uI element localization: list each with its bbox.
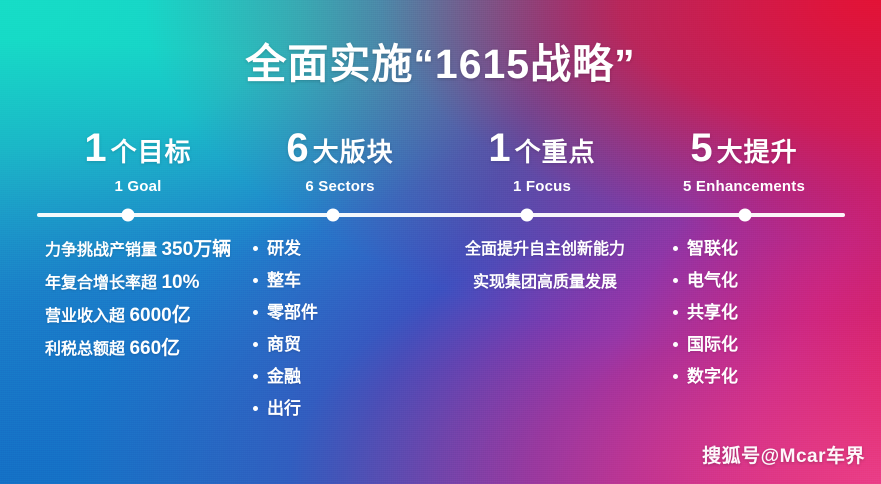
list-item: 商贸 — [253, 336, 445, 353]
focus-line: 实现集团高质量发展 — [445, 275, 645, 291]
divider-node-2 — [327, 209, 340, 222]
list-item: 电气化 — [673, 272, 845, 289]
divider-node-4 — [739, 209, 752, 222]
pillar-cn-label-sectors: 大版块 — [313, 139, 394, 165]
pillar-cn-label-enhancements: 大提升 — [717, 139, 798, 165]
sectors-list: 研发 整车 零部件 商贸 金融 出行 — [245, 240, 445, 417]
pillar-en-label-sectors: 6 Sectors — [239, 178, 441, 195]
goal-line: 营业收入超 6000亿 — [45, 306, 245, 325]
list-item: 整车 — [253, 272, 445, 289]
goal-line-value: 350万辆 — [161, 239, 231, 260]
pillar-body-goal: 力争挑战产销量 350万辆 年复合增长率超 10% 营业收入超 6000亿 利税… — [37, 240, 245, 372]
pillar-header-sectors: 6 大版块 6 Sectors — [239, 128, 441, 195]
pillar-body-focus: 全面提升自主创新能力 实现集团高质量发展 — [445, 240, 645, 308]
goal-line-value: 660亿 — [129, 338, 180, 359]
pillar-en-label-goal: 1 Goal — [37, 178, 239, 195]
pillar-cn-label-goal: 个目标 — [111, 139, 192, 165]
pillar-body-sectors: 研发 整车 零部件 商贸 金融 出行 — [245, 240, 445, 432]
goal-line-value: 6000亿 — [129, 305, 190, 326]
goal-line-prefix: 年复合增长率超 — [45, 275, 161, 292]
enhancements-list: 智联化 电气化 共享化 国际化 数字化 — [645, 240, 845, 385]
timeline-divider — [37, 213, 845, 217]
list-item: 智联化 — [673, 240, 845, 257]
pillar-header-row: 1 个目标 1 Goal 6 大版块 6 Sectors 1 个重点 1 Foc… — [37, 128, 845, 195]
pillar-header-goal: 1 个目标 1 Goal — [37, 128, 239, 195]
list-item: 研发 — [253, 240, 445, 257]
goal-line: 年复合增长率超 10% — [45, 273, 245, 292]
goal-line: 力争挑战产销量 350万辆 — [45, 240, 245, 259]
pillar-cn-label-focus: 个重点 — [515, 139, 596, 165]
pillar-number-enhancements: 5 — [690, 128, 712, 168]
pillar-body-row: 力争挑战产销量 350万辆 年复合增长率超 10% 营业收入超 6000亿 利税… — [37, 240, 845, 432]
goal-line-prefix: 力争挑战产销量 — [45, 242, 161, 259]
pillar-number-goal: 1 — [84, 128, 106, 168]
pillar-header-enhancements: 5 大提升 5 Enhancements — [643, 128, 845, 195]
focus-line: 全面提升自主创新能力 — [445, 242, 645, 258]
goal-line-prefix: 利税总额超 — [45, 341, 129, 358]
watermark: 搜狐号@Mcar车界 — [702, 441, 865, 468]
goal-line: 利税总额超 660亿 — [45, 339, 245, 358]
pillar-number-focus: 1 — [488, 128, 510, 168]
slide-canvas: 全面实施“1615战略” 1 个目标 1 Goal 6 大版块 6 Sector… — [0, 0, 881, 484]
pillar-number-sectors: 6 — [286, 128, 308, 168]
list-item: 出行 — [253, 400, 445, 417]
list-item: 零部件 — [253, 304, 445, 321]
divider-node-3 — [521, 209, 534, 222]
page-title: 全面实施“1615战略” — [0, 44, 881, 85]
pillar-header-focus: 1 个重点 1 Focus — [441, 128, 643, 195]
divider-node-1 — [122, 209, 135, 222]
goal-line-prefix: 营业收入超 — [45, 308, 129, 325]
list-item: 国际化 — [673, 336, 845, 353]
list-item: 共享化 — [673, 304, 845, 321]
pillar-en-label-focus: 1 Focus — [441, 178, 643, 195]
pillar-en-label-enhancements: 5 Enhancements — [643, 178, 845, 195]
list-item: 数字化 — [673, 368, 845, 385]
list-item: 金融 — [253, 368, 445, 385]
pillar-body-enhancements: 智联化 电气化 共享化 国际化 数字化 — [645, 240, 845, 400]
goal-line-value: 10% — [161, 272, 199, 293]
